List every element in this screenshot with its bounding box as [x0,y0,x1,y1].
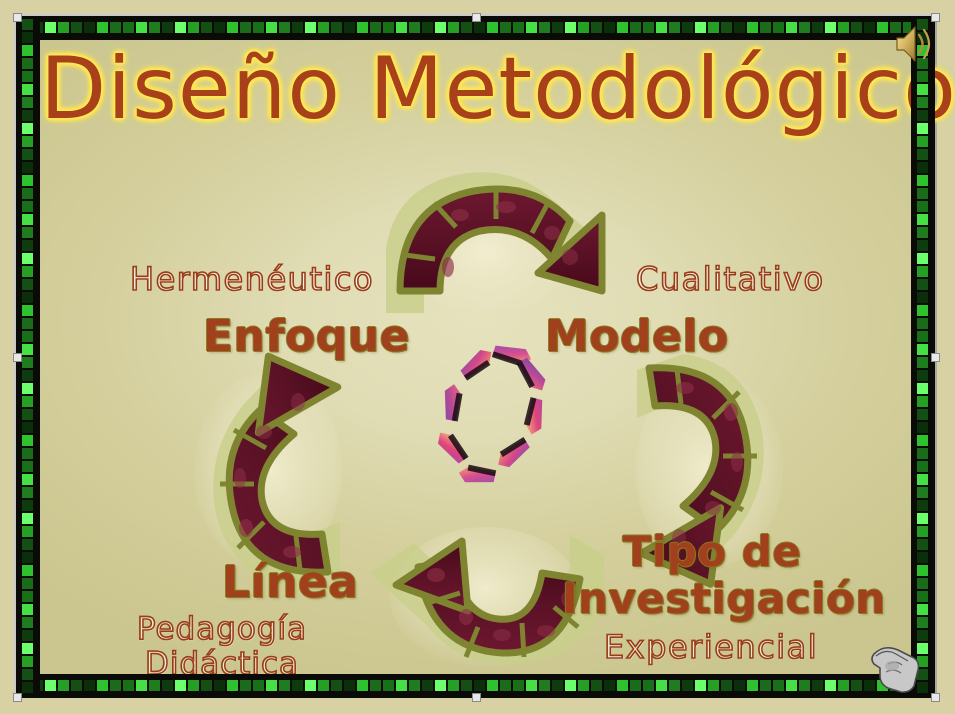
border-square [188,680,199,691]
border-square [747,22,758,33]
label-tipo-investigacion: Tipo de Investigación [562,528,862,622]
border-square [344,22,355,33]
border-square [760,22,771,33]
border-square [279,680,290,691]
selection-handle-bottom-right[interactable] [931,693,940,702]
border-square [917,123,928,134]
border-square [22,227,33,238]
border-square [331,22,342,33]
border-square [331,680,342,691]
border-square [318,22,329,33]
border-square [604,22,615,33]
border-square [149,680,160,691]
border-square [448,680,459,691]
border-square [318,680,329,691]
border-square [22,71,33,82]
border-square [917,344,928,355]
border-square [149,22,160,33]
border-square [162,22,173,33]
border-square [22,422,33,433]
border-square [917,552,928,563]
border-square [513,680,524,691]
border-square [877,22,888,33]
border-square [22,383,33,394]
label-modelo: Modelo [545,312,729,361]
border-square [917,188,928,199]
border-square [383,22,394,33]
border-square [22,682,33,693]
border-square [917,383,928,394]
border-square [110,22,121,33]
border-square [917,526,928,537]
border-square [917,266,928,277]
selection-handle-mid-right[interactable] [931,353,940,362]
border-square [22,305,33,316]
border-square [422,680,433,691]
border-square [201,680,212,691]
border-square [617,22,628,33]
slide-root: Hermenéutico Enfoque Cualitativo Modelo … [0,0,955,714]
border-square [22,84,33,95]
border-square [227,680,238,691]
border-square [917,422,928,433]
border-square [917,357,928,368]
border-square [917,617,928,628]
border-square [917,136,928,147]
border-square [22,318,33,329]
border-square [240,22,251,33]
border-square [695,22,706,33]
border-square [136,680,147,691]
page-title: Diseño Metodológico [40,44,910,134]
border-square [917,604,928,615]
label-hermeneutico: Hermenéutico [130,262,374,298]
selection-handle-top-right[interactable] [931,13,940,22]
label-didactica: Didáctica [92,647,352,674]
border-square [917,474,928,485]
border-square [22,643,33,654]
label-linea-values: Pedagogía Didáctica y currículo [92,612,352,674]
border-square [253,22,264,33]
border-square [917,71,928,82]
label-investigacion: Investigación [562,575,862,622]
border-square [565,680,576,691]
border-square [22,656,33,667]
selection-handle-bottom-center[interactable] [472,693,481,702]
border-square [22,474,33,485]
border-square [786,680,797,691]
border-square [58,22,69,33]
border-square [435,22,446,33]
border-square [22,188,33,199]
border-square [22,344,33,355]
border-square [487,680,498,691]
border-square [539,22,550,33]
border-square [643,22,654,33]
border-square [22,123,33,134]
border-square [123,680,134,691]
border-square [617,680,628,691]
border-square [22,370,33,381]
border-square [773,680,784,691]
border-square [695,680,706,691]
border-square [917,435,928,446]
border-square [487,22,498,33]
border-square [22,253,33,264]
border-square [721,680,732,691]
border-square [71,22,82,33]
border-square [917,292,928,303]
border-square [656,22,667,33]
border-square [214,680,225,691]
border-square [474,22,485,33]
border-square [917,591,928,602]
border-square [799,22,810,33]
border-square [22,58,33,69]
border-square [917,149,928,160]
border-square [22,526,33,537]
border-square [760,680,771,691]
border-square [917,370,928,381]
border-square [734,680,745,691]
border-square [84,680,95,691]
border-square [565,22,576,33]
border-square [22,669,33,680]
border-square [917,539,928,550]
border-square [22,461,33,472]
border-square [721,22,732,33]
border-square [409,22,420,33]
border-square [917,201,928,212]
curved-arrow-top [356,163,616,318]
border-square [604,680,615,691]
border-square [22,552,33,563]
border-square [357,22,368,33]
border-square [917,253,928,264]
border-square [917,500,928,511]
border-square [917,84,928,95]
border-square [917,97,928,108]
border-square [22,266,33,277]
border-square [864,22,875,33]
border-square [188,22,199,33]
label-experiencial: Experiencial [604,630,818,666]
label-linea: Línea [222,558,358,607]
border-square [22,214,33,225]
border-square [357,680,368,691]
border-square [917,227,928,238]
border-square [734,22,745,33]
border-square [917,331,928,342]
border-square [22,32,33,43]
border-square [22,162,33,173]
border-square [45,22,56,33]
border-square [344,680,355,691]
border-square [409,680,420,691]
selection-handle-top-left[interactable] [13,13,22,22]
border-square [22,136,33,147]
border-square [552,680,563,691]
border-square [110,680,121,691]
label-cualitativo: Cualitativo [636,262,825,298]
border-square [500,22,511,33]
border-square [22,513,33,524]
border-square [253,680,264,691]
border-square [526,22,537,33]
border-square [136,22,147,33]
border-square [22,565,33,576]
border-square [22,331,33,342]
border-square [917,162,928,173]
border-square [838,680,849,691]
border-square [123,22,134,33]
border-square [917,461,928,472]
border-square [22,500,33,511]
border-square [448,22,459,33]
border-square [578,680,589,691]
border-square [708,22,719,33]
border-square [22,617,33,628]
border-square [917,396,928,407]
border-square [45,680,56,691]
border-square [435,680,446,691]
border-square [22,630,33,641]
border-square [201,22,212,33]
border-square [578,22,589,33]
border-square [97,680,108,691]
border-square [500,680,511,691]
border-square [58,680,69,691]
border-square [22,604,33,615]
border-square [266,22,277,33]
selection-handle-bottom-left[interactable] [13,693,22,702]
border-square [513,22,524,33]
border-square [825,680,836,691]
border-square [643,680,654,691]
border-square [851,680,862,691]
border-square [825,22,836,33]
border-square [461,680,472,691]
border-square [292,680,303,691]
border-square [22,45,33,56]
border-square [591,22,602,33]
border-square [917,448,928,459]
border-square [370,22,381,33]
border-square [97,22,108,33]
border-square [383,680,394,691]
border-square [917,578,928,589]
border-square [682,680,693,691]
label-tipo-de: Tipo de [562,528,862,575]
border-square [669,22,680,33]
border-square [917,318,928,329]
border-square [422,22,433,33]
border-square [84,22,95,33]
border-square [773,22,784,33]
border-square [22,201,33,212]
border-square [396,22,407,33]
hand-pointer-icon[interactable] [868,638,924,696]
border-square [812,680,823,691]
border-square [22,279,33,290]
border-square [266,680,277,691]
border-square [812,22,823,33]
border-square [461,22,472,33]
border-square [474,680,485,691]
border-square [22,487,33,498]
border-square [279,22,290,33]
border-square [669,680,680,691]
border-square [22,19,33,30]
border-square [682,22,693,33]
border-square [22,110,33,121]
border-square [526,680,537,691]
border-square [175,22,186,33]
border-square [851,22,862,33]
border-square [22,435,33,446]
border-square [917,409,928,420]
selection-handle-top-center[interactable] [472,13,481,22]
border-square [22,591,33,602]
border-square [630,680,641,691]
border-square [22,240,33,251]
border-square [22,578,33,589]
border-square [71,680,82,691]
border-square [22,539,33,550]
border-square [370,680,381,691]
border-square [591,680,602,691]
border-square [22,97,33,108]
label-pedagogia: Pedagogía [92,612,352,647]
border-square [552,22,563,33]
border-square [799,680,810,691]
border-square [22,396,33,407]
border-square [396,680,407,691]
label-enfoque: Enfoque [203,312,410,361]
selection-handle-mid-left[interactable] [13,353,22,362]
border-square [708,680,719,691]
border-square [838,22,849,33]
border-square [630,22,641,33]
border-square [227,22,238,33]
border-square [656,680,667,691]
border-square [917,487,928,498]
border-square [22,448,33,459]
speaker-icon[interactable] [893,22,933,66]
border-square [305,680,316,691]
border-square [22,409,33,420]
border-square [240,680,251,691]
border-square [22,292,33,303]
border-square [305,22,316,33]
border-square [917,175,928,186]
border-square [917,279,928,290]
border-square [539,680,550,691]
border-square [917,305,928,316]
border-square [917,513,928,524]
border-square [175,680,186,691]
border-square [917,110,928,121]
border-square [917,240,928,251]
border-square [214,22,225,33]
border-square [747,680,758,691]
border-square [292,22,303,33]
border-square [22,175,33,186]
border-square [917,214,928,225]
border-square [917,565,928,576]
border-square [162,680,173,691]
border-square [22,149,33,160]
border-square [786,22,797,33]
border-square [22,357,33,368]
